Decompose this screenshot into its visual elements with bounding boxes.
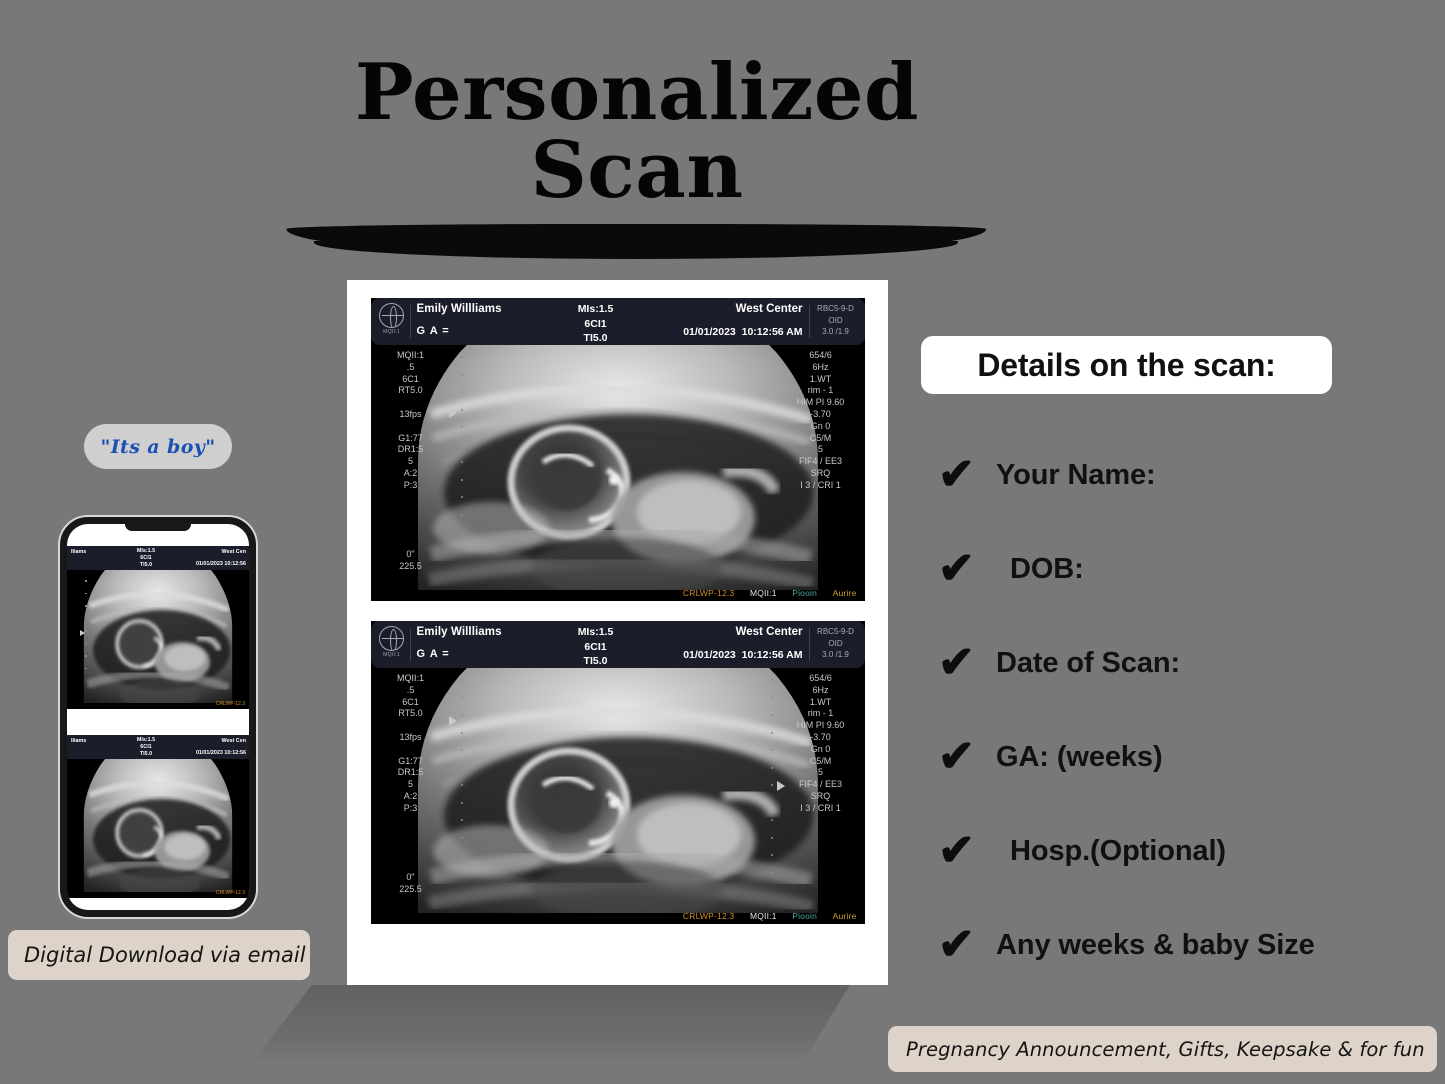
param: .5 bbox=[375, 685, 447, 697]
ultrasound-scan-1: MQII:1 Emily Willliams G A = MIs:1.5 6CI… bbox=[371, 298, 865, 601]
param: rim - 1 bbox=[783, 385, 859, 397]
param: DR1:5 bbox=[375, 444, 447, 456]
focus-marker-left-2 bbox=[449, 716, 457, 726]
param: .5 bbox=[375, 362, 447, 374]
probe-info: RBC5-9-D OID 3.0 /1.9 bbox=[811, 303, 861, 338]
probe-oid: OID bbox=[811, 638, 861, 650]
patient-name: Emily Willliams bbox=[417, 303, 502, 315]
phone-probe-code: 6CI1 bbox=[125, 555, 167, 562]
footer-mqii: MQII:1 bbox=[750, 911, 777, 921]
checklist-item-ga: ✔ GA: (weeks) bbox=[930, 710, 1440, 804]
param: MQII:1 bbox=[375, 350, 447, 362]
scan-card: MQII:1 Emily Willliams G A = MIs:1.5 6CI… bbox=[347, 280, 888, 985]
param: HIM PI 9.60 bbox=[783, 720, 859, 732]
clinic-name: West Center bbox=[736, 303, 803, 315]
phone-fan-image-1 bbox=[67, 570, 249, 709]
param: FIF4 / EE3 bbox=[783, 779, 859, 791]
acoustic-indices: MIs:1.5 6CI1 TI5.0 bbox=[551, 302, 641, 346]
param: 6Hz bbox=[783, 362, 859, 374]
patient-name: Emily Willliams bbox=[417, 626, 502, 638]
phone-volume-up-button[interactable] bbox=[60, 616, 61, 642]
param: 654/6 bbox=[783, 673, 859, 685]
details-checklist: ✔ Your Name: ✔ DOB: ✔ Date of Scan: ✔ GA… bbox=[930, 428, 1440, 992]
phone-scan-preview-2: lliams MIs:1.5 6CI1 TI5.0 West Cen 01/01… bbox=[67, 735, 249, 898]
scan-header-1: MQII:1 Emily Willliams G A = MIs:1.5 6CI… bbox=[371, 298, 865, 345]
ga-field-label: G A = bbox=[417, 325, 450, 337]
scan-datetime: 01/01/2023 10:12:56 AM bbox=[683, 649, 802, 661]
checklist-label: DOB: bbox=[996, 553, 1084, 586]
param: G1:77 bbox=[375, 756, 447, 768]
phone-clinic-name: West Cen bbox=[222, 549, 246, 555]
depth-value: 225.5 bbox=[375, 561, 447, 573]
checklist-item-date-of-scan: ✔ Date of Scan: bbox=[930, 616, 1440, 710]
phone-fan-image-2 bbox=[67, 759, 249, 898]
check-icon: ✔ bbox=[930, 829, 996, 873]
param: P:3 bbox=[375, 480, 447, 492]
ultrasound-scan-2: MQII:1 Emily Willliams G A = MIs:1.5 6CI… bbox=[371, 621, 865, 924]
page-title: Personalized Scan bbox=[248, 54, 1026, 210]
phone-mockup: lliams MIs:1.5 6CI1 TI5.0 West Cen 01/01… bbox=[60, 517, 256, 917]
footer-crl: CRLWP-12.3 bbox=[683, 911, 734, 921]
param: C5/M bbox=[783, 433, 859, 445]
scan-header-2: MQII:1 Emily Willliams G A = MIs:1.5 6CI… bbox=[371, 621, 865, 668]
checklist-label: Date of Scan: bbox=[996, 647, 1180, 680]
param: C5/M bbox=[783, 756, 859, 768]
probe-mi-ti: 3.0 /1.9 bbox=[811, 649, 861, 661]
phone-scan-preview-1: lliams MIs:1.5 6CI1 TI5.0 West Cen 01/01… bbox=[67, 546, 249, 709]
probe-mi-ti: 3.0 /1.9 bbox=[811, 326, 861, 338]
ti-value: TI5.0 bbox=[551, 654, 641, 669]
param: -3.70 bbox=[783, 409, 859, 421]
right-parameter-column-1: 654/6 6Hz 1.WT rim - 1 HIM PI 9.60 -3.70… bbox=[783, 350, 859, 492]
check-icon: ✔ bbox=[930, 453, 996, 497]
param-framerate: 13fps bbox=[375, 409, 447, 421]
probe-model: RBC5-9-D bbox=[811, 303, 861, 315]
param: SRQ bbox=[783, 791, 859, 803]
use-cases-text: Pregnancy Announcement, Gifts, Keepsake … bbox=[906, 1038, 1425, 1061]
logo-tag: MQII:1 bbox=[377, 652, 407, 658]
brush-stroke-underline bbox=[286, 224, 987, 254]
phone-power-button[interactable] bbox=[255, 634, 256, 676]
param: 6Hz bbox=[783, 685, 859, 697]
depth-ruler-left-2 bbox=[457, 679, 467, 894]
phone-mi: MIs:1.5 bbox=[125, 737, 167, 744]
checklist-label: GA: (weeks) bbox=[996, 741, 1163, 774]
footer-picoin: Piooin bbox=[792, 588, 817, 598]
details-heading-text: Details on the scan: bbox=[977, 347, 1275, 384]
param: 1.WT bbox=[783, 697, 859, 709]
digital-download-label: Digital Download via email bbox=[8, 930, 310, 980]
scan-time: 10:12:56 AM bbox=[742, 649, 803, 661]
param: 5 bbox=[783, 767, 859, 779]
header-divider-left bbox=[410, 305, 411, 338]
param: 5 bbox=[375, 779, 447, 791]
depth-angle: 0" bbox=[375, 872, 447, 884]
mi-value: MIs:1.5 bbox=[551, 625, 641, 640]
phone-ti: TI5.0 bbox=[125, 751, 167, 758]
check-icon: ✔ bbox=[930, 735, 996, 779]
param: rim - 1 bbox=[783, 708, 859, 720]
phone-patient-name: lliams bbox=[71, 738, 86, 744]
header-divider-right bbox=[809, 305, 810, 338]
phone-scan-header-1: lliams MIs:1.5 6CI1 TI5.0 West Cen 01/01… bbox=[67, 546, 249, 570]
header-divider-right bbox=[809, 628, 810, 661]
footer-mqii: MQII:1 bbox=[750, 588, 777, 598]
param: 1.WT bbox=[783, 374, 859, 386]
digital-download-text: Digital Download via email bbox=[24, 943, 306, 967]
phone-scan-footer-1: CRLWP-12.3 bbox=[216, 701, 245, 707]
param: P:3 bbox=[375, 803, 447, 815]
its-a-boy-label: "Its a boy" bbox=[100, 436, 215, 458]
checklist-label: Hosp.(Optional) bbox=[996, 835, 1226, 868]
depth-angle: 0" bbox=[375, 549, 447, 561]
checklist-item-your-name: ✔ Your Name: bbox=[930, 428, 1440, 522]
left-parameter-column-2: MQII:1 .5 6C1 RT5.0 13fps G1:77 DR1:5 5 … bbox=[375, 673, 447, 815]
depth-value: 225.5 bbox=[375, 884, 447, 896]
mi-value: MIs:1.5 bbox=[551, 302, 641, 317]
check-icon: ✔ bbox=[930, 923, 996, 967]
param: A:2 bbox=[375, 791, 447, 803]
param: RT5.0 bbox=[375, 385, 447, 397]
depth-readout-1: 0" 225.5 bbox=[375, 549, 447, 573]
phone-datetime: 01/01/2023 10:12:56 bbox=[196, 561, 246, 567]
param: FIF4 / EE3 bbox=[783, 456, 859, 468]
scan-footer-2: CRLWP-12.3 MQII:1 Piooin Aurire bbox=[371, 911, 865, 921]
ti-value: TI5.0 bbox=[551, 331, 641, 346]
phone-scan-header-2: lliams MIs:1.5 6CI1 TI5.0 West Cen 01/01… bbox=[67, 735, 249, 759]
param: MQII:1 bbox=[375, 673, 447, 685]
param: 6C1 bbox=[375, 697, 447, 709]
card-shadow bbox=[252, 985, 850, 1063]
phone-screen: lliams MIs:1.5 6CI1 TI5.0 West Cen 01/01… bbox=[67, 524, 249, 910]
scan-date: 01/01/2023 bbox=[683, 649, 736, 661]
scan-datetime: 01/01/2023 10:12:56 AM bbox=[683, 326, 802, 338]
param: G1:77 bbox=[375, 433, 447, 445]
machine-logo-icon: MQII:1 bbox=[377, 626, 407, 664]
use-cases-label: Pregnancy Announcement, Gifts, Keepsake … bbox=[888, 1026, 1437, 1072]
param: Gn 0 bbox=[783, 421, 859, 433]
globe-icon bbox=[379, 303, 404, 328]
clinic-name: West Center bbox=[736, 626, 803, 638]
phone-screen-divider bbox=[67, 709, 249, 735]
param: 5 bbox=[375, 456, 447, 468]
param: I 3 / CRI 1 bbox=[783, 803, 859, 815]
phone-indices: MIs:1.5 6CI1 TI5.0 bbox=[125, 548, 167, 570]
focus-marker-left-1 bbox=[449, 408, 457, 418]
phone-screen-bottom-pad bbox=[67, 898, 249, 910]
phone-volume-down-button[interactable] bbox=[60, 654, 61, 680]
check-icon: ✔ bbox=[930, 547, 996, 591]
phone-clinic-name: West Cen bbox=[222, 738, 246, 744]
phone-mi: MIs:1.5 bbox=[125, 548, 167, 555]
ga-field-label: G A = bbox=[417, 648, 450, 660]
checklist-label: Any weeks & baby Size bbox=[996, 929, 1315, 962]
param: Gn 0 bbox=[783, 744, 859, 756]
phone-notch bbox=[125, 524, 191, 531]
phone-indices: MIs:1.5 6CI1 TI5.0 bbox=[125, 737, 167, 759]
phone-datetime: 01/01/2023 10:12:56 bbox=[196, 750, 246, 756]
depth-ruler-right-2 bbox=[767, 679, 777, 894]
footer-crl: CRLWP-12.3 bbox=[683, 588, 734, 598]
param: A:2 bbox=[375, 468, 447, 480]
depth-ruler-left-1 bbox=[457, 356, 467, 571]
footer-aurire: Aurire bbox=[833, 911, 857, 921]
phone-focus-marker-1 bbox=[80, 630, 85, 636]
probe-info: RBC5-9-D OID 3.0 /1.9 bbox=[811, 626, 861, 661]
logo-tag: MQII:1 bbox=[377, 329, 407, 335]
phone-probe-code: 6CI1 bbox=[125, 744, 167, 751]
scan-footer-1: CRLWP-12.3 MQII:1 Piooin Aurire bbox=[371, 588, 865, 598]
footer-picoin: Piooin bbox=[792, 911, 817, 921]
phone-patient-name: lliams bbox=[71, 549, 86, 555]
param-framerate: 13fps bbox=[375, 732, 447, 744]
header-divider-left bbox=[410, 628, 411, 661]
acoustic-indices: MIs:1.5 6CI1 TI5.0 bbox=[551, 625, 641, 669]
probe-code: 6CI1 bbox=[551, 317, 641, 332]
probe-code: 6CI1 bbox=[551, 640, 641, 655]
checklist-item-weeks-size: ✔ Any weeks & baby Size bbox=[930, 898, 1440, 992]
left-parameter-column-1: MQII:1 .5 6C1 RT5.0 13fps G1:77 DR1:5 5 … bbox=[375, 350, 447, 492]
param: 654/6 bbox=[783, 350, 859, 362]
machine-logo-icon: MQII:1 bbox=[377, 303, 407, 341]
param: 5 bbox=[783, 444, 859, 456]
probe-oid: OID bbox=[811, 315, 861, 327]
check-icon: ✔ bbox=[930, 641, 996, 685]
param: SRQ bbox=[783, 468, 859, 480]
phone-scan-footer-2: CRLWP-12.3 bbox=[216, 890, 245, 896]
checklist-item-dob: ✔ DOB: bbox=[930, 522, 1440, 616]
param: DR1:5 bbox=[375, 767, 447, 779]
footer-aurire: Aurire bbox=[833, 588, 857, 598]
scan-date: 01/01/2023 bbox=[683, 326, 736, 338]
scan-time: 10:12:56 AM bbox=[742, 326, 803, 338]
title-banner: Personalized Scan bbox=[248, 0, 1026, 232]
depth-readout-2: 0" 225.5 bbox=[375, 872, 447, 896]
checklist-item-hospital: ✔ Hosp.(Optional) bbox=[930, 804, 1440, 898]
right-parameter-column-2: 654/6 6Hz 1.WT rim - 1 HIM PI 9.60 -3.70… bbox=[783, 673, 859, 815]
its-a-boy-badge: "Its a boy" bbox=[84, 424, 232, 469]
param: RT5.0 bbox=[375, 708, 447, 720]
details-heading-badge: Details on the scan: bbox=[921, 336, 1332, 394]
param: I 3 / CRI 1 bbox=[783, 480, 859, 492]
checklist-label: Your Name: bbox=[996, 459, 1156, 492]
globe-icon bbox=[379, 626, 404, 651]
param: -3.70 bbox=[783, 732, 859, 744]
param: 6C1 bbox=[375, 374, 447, 386]
param: HIM PI 9.60 bbox=[783, 397, 859, 409]
phone-depth-ruler-1 bbox=[85, 580, 87, 680]
probe-model: RBC5-9-D bbox=[811, 626, 861, 638]
phone-ti: TI5.0 bbox=[125, 562, 167, 569]
